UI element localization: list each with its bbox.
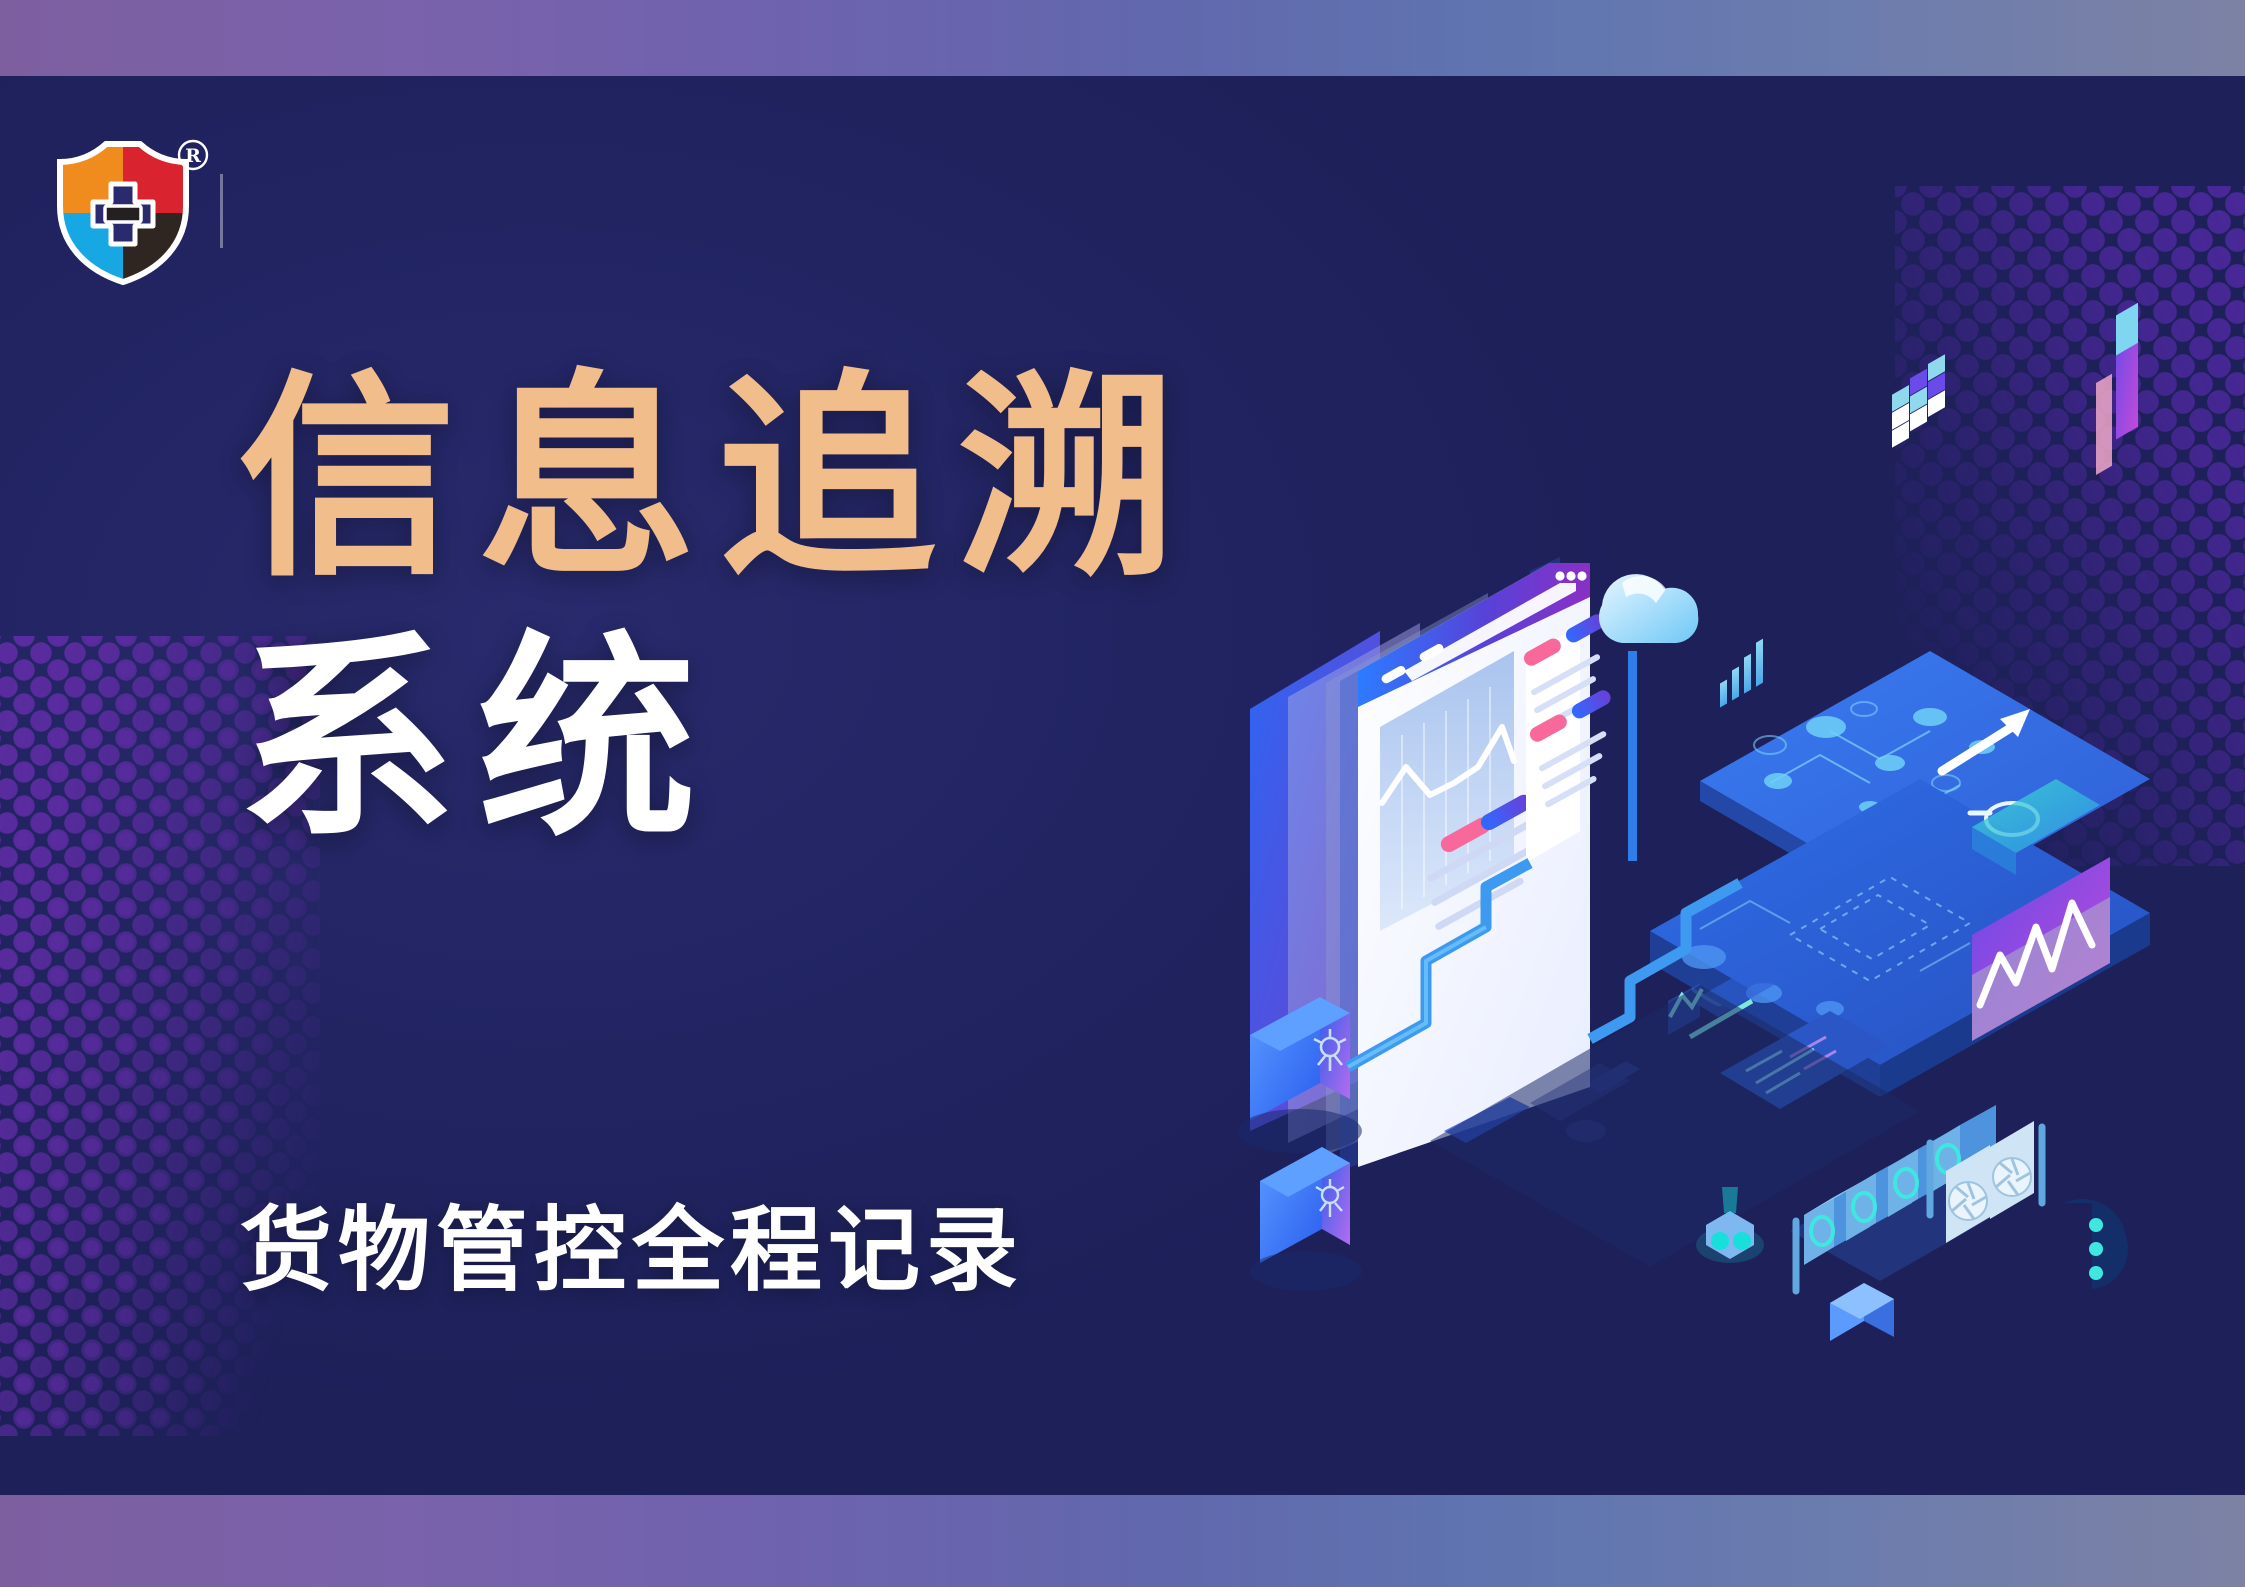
blockchain-cube-lower: [1250, 1147, 1362, 1291]
headline-line-1: 信息追溯: [238, 366, 1378, 591]
isometric-data-platform-illustration: [1230, 531, 2150, 1331]
registered-trademark-icon: R: [176, 138, 210, 172]
bottom-gradient-band: [0, 1495, 2245, 1587]
headline-block: 信息追溯 系统: [238, 366, 1378, 853]
illustration-svg: [1230, 531, 2150, 1331]
svg-text:R: R: [185, 145, 201, 167]
small-floating-cube: [1830, 1283, 1894, 1341]
right-panel-list: [1521, 612, 1613, 863]
bar-pillar-widget: [2116, 303, 2138, 440]
subtitle-text: 货物管控全程记录: [240, 1176, 1024, 1309]
logo-divider: [220, 174, 223, 248]
brand-logo: R: [48, 136, 258, 276]
top-gradient-band: [0, 0, 2245, 76]
poster-canvas: R 信息追溯 系统 货物管控全程记录: [0, 0, 2245, 1587]
cloud-icon: [1599, 574, 1698, 861]
poster-stage: R 信息追溯 系统 货物管控全程记录: [0, 76, 2245, 1495]
robot-icon: [2064, 1199, 2128, 1289]
headline-line-2: 系统: [238, 625, 1378, 854]
